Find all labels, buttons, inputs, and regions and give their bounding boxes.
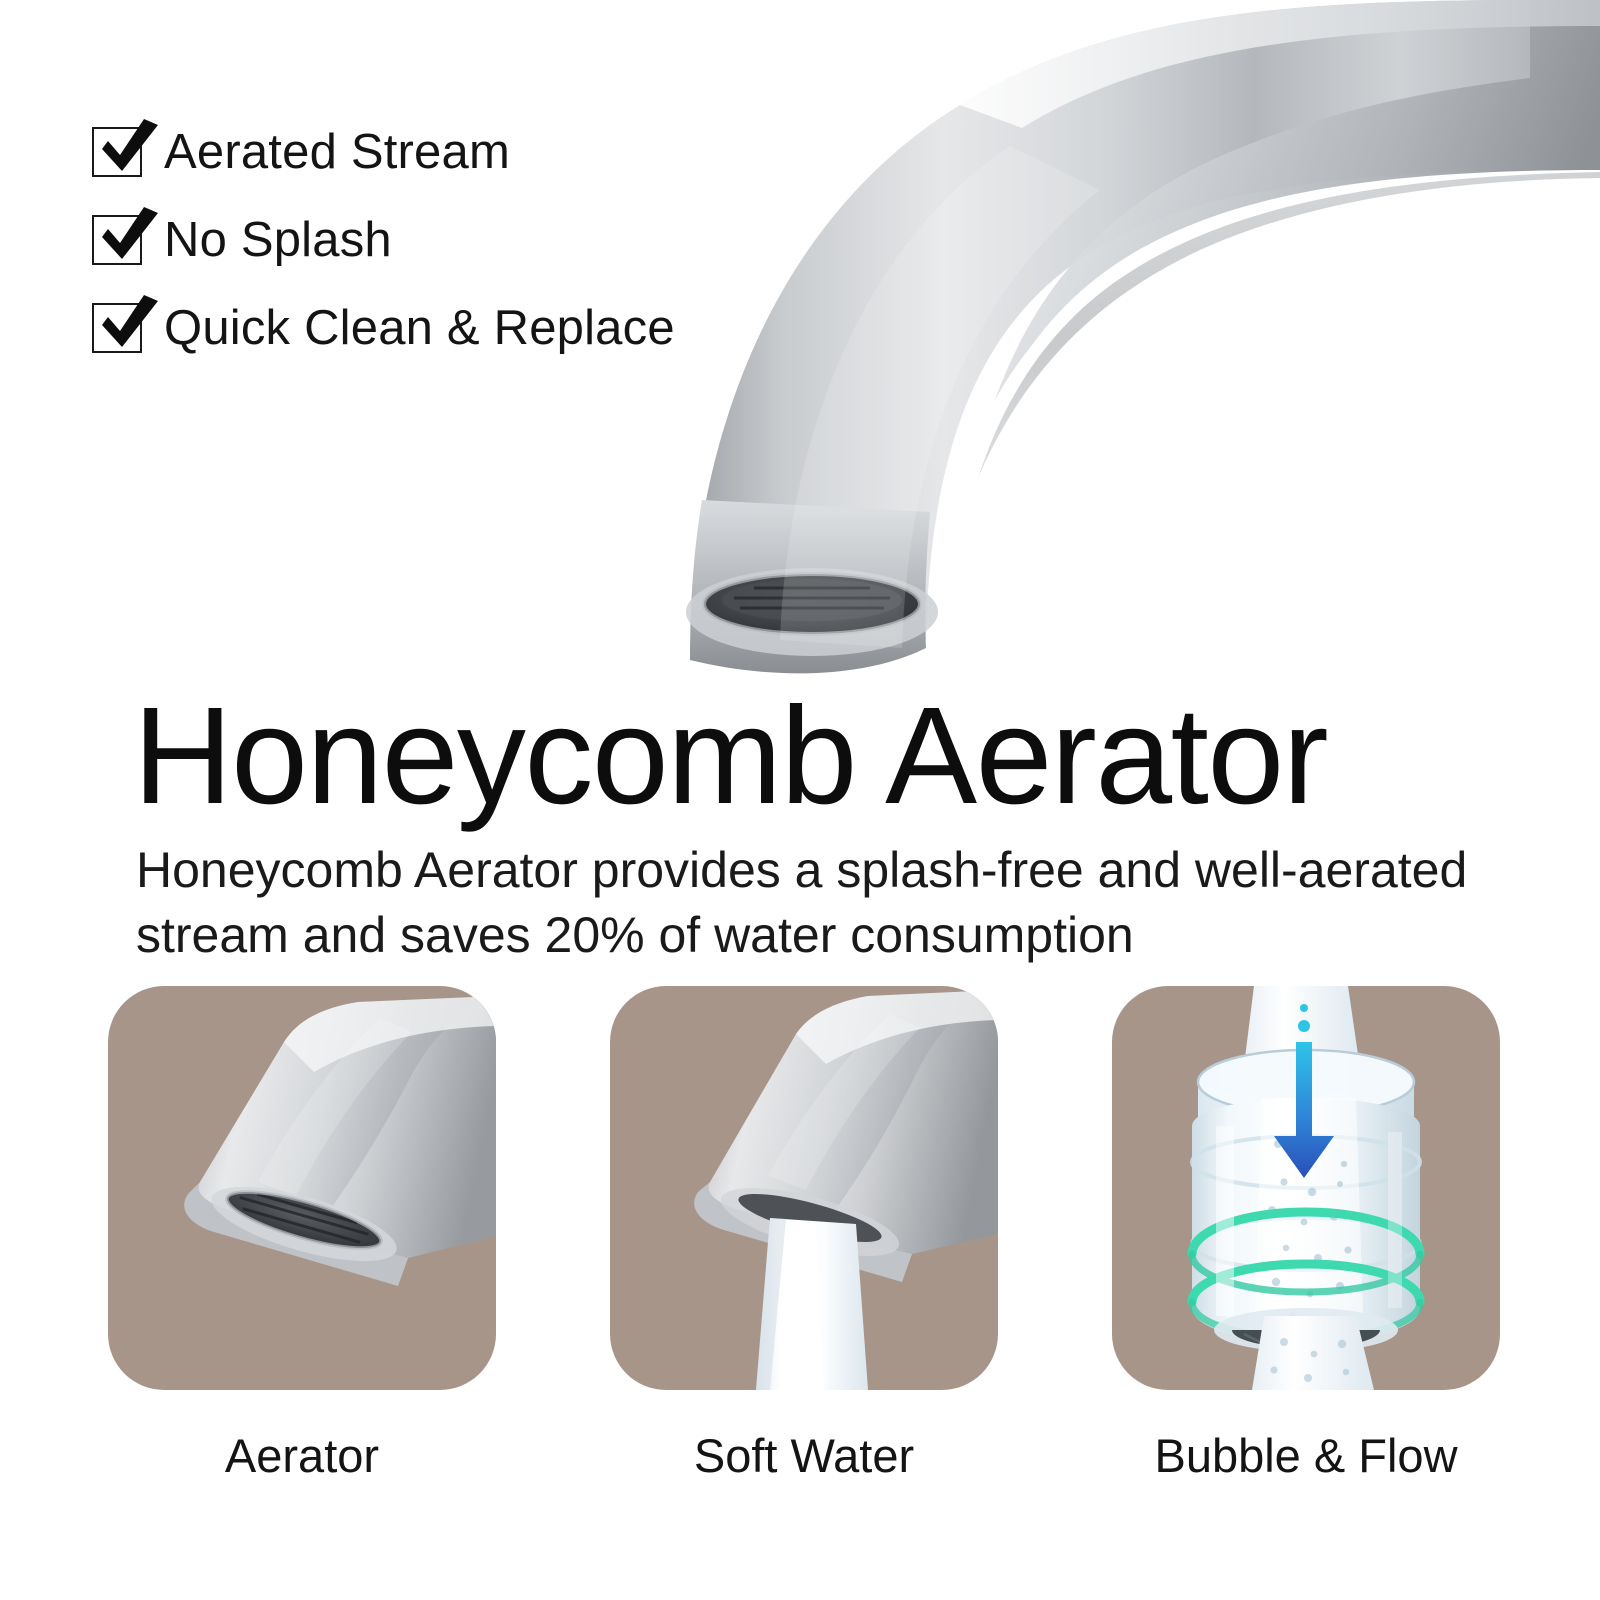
- panel-bubble-flow: [1112, 986, 1500, 1390]
- feature-label: No Splash: [164, 216, 392, 265]
- feature-checklist: Aerated Stream No Splash Quick Clean & R…: [92, 108, 732, 372]
- faucet-spout-hero-image: [630, 0, 1600, 690]
- panel-captions: Aerator Soft Water Bubble & Flow: [108, 1432, 1500, 1512]
- checkbox-checked-icon: [92, 215, 142, 265]
- panel-soft-water: [610, 986, 998, 1390]
- caption-aerator: Aerator: [108, 1432, 496, 1512]
- page-title: Honeycomb Aerator: [133, 686, 1553, 827]
- page-subtitle: Honeycomb Aerator provides a splash-free…: [136, 838, 1536, 967]
- feature-label: Quick Clean & Replace: [164, 304, 675, 353]
- caption-bubble-flow: Bubble & Flow: [1112, 1432, 1500, 1512]
- checkbox-checked-icon: [92, 127, 142, 177]
- feature-item-no-splash: No Splash: [92, 196, 732, 284]
- checkbox-checked-icon: [92, 303, 142, 353]
- feature-panels: [108, 986, 1500, 1390]
- feature-label: Aerated Stream: [164, 128, 510, 177]
- feature-item-quick-clean-replace: Quick Clean & Replace: [92, 284, 732, 372]
- panel-aerator: [108, 986, 496, 1390]
- feature-item-aerated-stream: Aerated Stream: [92, 108, 732, 196]
- caption-soft-water: Soft Water: [610, 1432, 998, 1512]
